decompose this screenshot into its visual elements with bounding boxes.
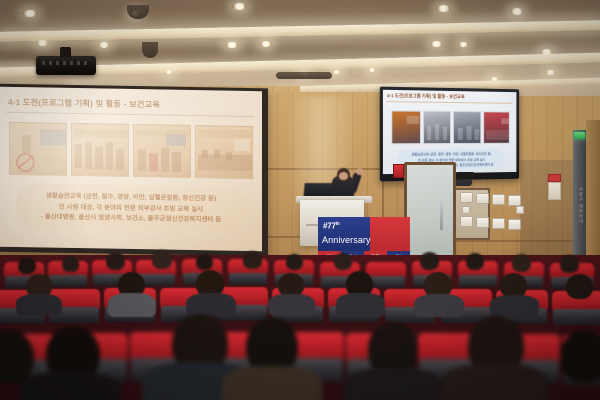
- tv-title-rule: [386, 101, 513, 104]
- audience-shoulders: [490, 295, 539, 317]
- slide-photo-3: [133, 124, 191, 178]
- switch-plate-small[interactable]: [462, 206, 470, 214]
- tv-photo-4: [483, 111, 510, 144]
- audience-head: [152, 250, 172, 269]
- switch-plate[interactable]: [460, 192, 473, 203]
- banner-number-text: #77: [323, 222, 336, 231]
- audience-head: [420, 252, 439, 270]
- switch-plate-small[interactable]: [516, 206, 524, 214]
- wall-control-panel[interactable]: [456, 172, 474, 179]
- audience-head: [243, 251, 262, 269]
- ceiling: [0, 0, 600, 96]
- slide-photo-1: [9, 122, 67, 176]
- audience-head: [466, 253, 484, 270]
- audience-shoulders: [222, 366, 322, 400]
- audience-shoulders: [442, 364, 548, 400]
- audience-shoulders: [20, 372, 120, 400]
- banner-red-block: [370, 217, 410, 251]
- downlight: [232, 3, 247, 10]
- downlight: [430, 41, 443, 47]
- audience-head: [286, 254, 303, 270]
- audience-shoulders: [108, 293, 156, 317]
- downlight: [36, 40, 49, 46]
- wall-notice-paper: [548, 182, 561, 200]
- ceiling-vent-linear: [276, 72, 332, 79]
- audience-head: [196, 254, 213, 270]
- audience-shoulders: [336, 293, 385, 317]
- tv-photo-strip: [391, 110, 510, 144]
- emergency-exit-light: [574, 132, 585, 139]
- banner-ordinal: th: [336, 221, 340, 226]
- ceiling-projector: [36, 56, 96, 75]
- switch-plate[interactable]: [476, 193, 489, 204]
- audience-head: [334, 253, 352, 270]
- switch-plate[interactable]: [492, 218, 505, 229]
- banner-anniversary-label: Anniversary: [322, 235, 371, 245]
- projection-screen: 4-1 도전(프로그램 기획) 및 활동 - 보건교육: [0, 84, 268, 257]
- downlight: [98, 42, 110, 48]
- downlight: [332, 70, 341, 74]
- downlight: [22, 10, 38, 17]
- downlight: [368, 68, 376, 72]
- audience-head: [566, 274, 593, 299]
- audience-head: [560, 255, 579, 273]
- audience-head: [560, 330, 600, 382]
- fire-alarm-box[interactable]: [393, 164, 404, 178]
- downlight: [545, 70, 556, 75]
- pillar-exit-sign-text: 비상구 대피안내: [576, 146, 584, 266]
- tv-photo-2: [423, 111, 451, 144]
- downlight: [165, 70, 173, 74]
- downlight: [458, 42, 469, 47]
- door-handle[interactable]: [440, 196, 443, 230]
- audience-shoulders: [414, 294, 464, 317]
- slide-photo-4: [195, 125, 253, 179]
- slide-body-line-3: - 울산대병원, 울산시 영양사회, 보건소, 울주군정신건강복지센터 등: [41, 211, 222, 223]
- downlight: [436, 5, 451, 12]
- tv-slide-title: 4-1 도전(프로그램 기획) 및 활동 - 보건교육: [387, 93, 465, 100]
- slide-photo-strip: [9, 122, 253, 179]
- switch-plate[interactable]: [508, 219, 521, 230]
- downlight: [225, 42, 239, 48]
- switch-plate[interactable]: [492, 194, 505, 205]
- downlight: [260, 41, 272, 47]
- wall-switch-grid: [460, 192, 522, 232]
- audience-head: [18, 257, 36, 274]
- switch-plate[interactable]: [508, 195, 521, 206]
- switch-plate[interactable]: [476, 217, 489, 228]
- audience-head: [106, 252, 125, 270]
- auditorium-photo: 4-1 도전(프로그램 기획) 및 활동 - 보건교육: [0, 0, 600, 400]
- slide-text-box: 생활습관교육 (금연, 절주, 영양, 비만, 심혈관질환, 정신건강 등) 전…: [16, 183, 246, 231]
- audience-shoulders: [344, 368, 442, 400]
- projection-screen-surface: 4-1 도전(프로그램 기획) 및 활동 - 보건교육: [0, 87, 262, 252]
- audience-head: [62, 256, 79, 272]
- tv-photo-3: [453, 111, 481, 144]
- downlight: [490, 77, 499, 81]
- speaker-hand: [356, 168, 363, 175]
- ceiling-vent: [142, 42, 158, 58]
- wall-notice-red: [548, 174, 561, 182]
- slide-photo-2: [71, 123, 129, 177]
- audience-shoulders: [268, 294, 315, 316]
- banner-number: #77th: [323, 221, 340, 231]
- audience-shoulders: [186, 293, 236, 317]
- tv-photo-1: [391, 110, 420, 144]
- switch-plate[interactable]: [460, 216, 473, 227]
- speaker-face: [339, 172, 348, 180]
- downlight: [540, 49, 553, 55]
- audience-head: [512, 254, 531, 272]
- slide-body-line-2: 전 사원 대상, 각 분야의 전문 외부강사 초빙 교육 실시: [59, 201, 203, 213]
- audience-shoulders: [16, 294, 62, 316]
- downlight: [510, 8, 524, 15]
